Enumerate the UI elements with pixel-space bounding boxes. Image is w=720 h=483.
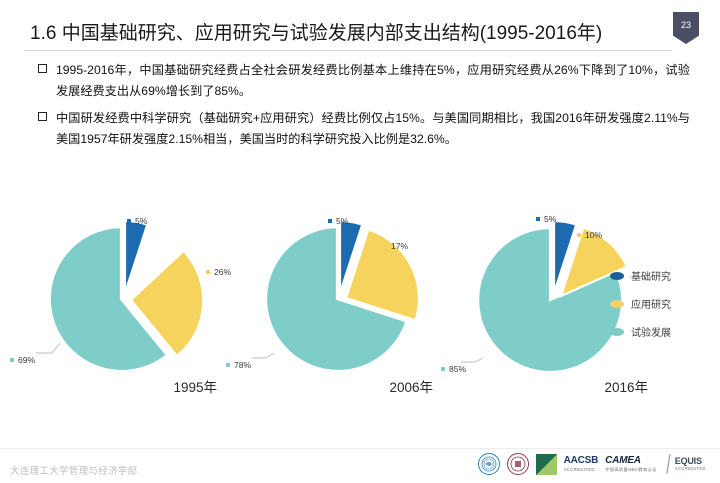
bullet-text: 中国研发经费中科学研究（基础研究+应用研究）经费比例仅占15%。与美国同期相比，… bbox=[56, 108, 690, 150]
data-label-experimental: 69% bbox=[10, 355, 35, 365]
page-title: 1.6 中国基础研究、应用研究与试验发展内部支出结构(1995-2016年) bbox=[30, 18, 602, 45]
aacsb-logo-main: AACSB bbox=[564, 456, 599, 466]
data-label-experimental: 78% bbox=[226, 360, 251, 370]
list-item: 中国研发经费中科学研究（基础研究+应用研究）经费比例仅占15%。与美国同期相比，… bbox=[30, 108, 690, 150]
legend-swatch-applied-icon bbox=[610, 300, 624, 308]
data-label-applied: 10% bbox=[577, 230, 602, 240]
leader-line-experimental bbox=[461, 358, 483, 362]
pie-chart-1995: 5% 26% 69% 1995年 bbox=[24, 196, 239, 396]
equis-logo: ╱ EQUIS ACCREDITED bbox=[664, 455, 706, 473]
bullet-text: 1995-2016年，中国基础研究经费占全社会研发经费比例基本上维持在5%，应用… bbox=[56, 60, 690, 102]
legend-item-experimental: 试验发展 bbox=[610, 324, 671, 339]
data-label-experimental: 85% bbox=[441, 364, 466, 374]
marker-basic-icon bbox=[328, 219, 332, 223]
aacsb-mark-icon bbox=[536, 454, 557, 475]
aacsb-logo: AACSB ACCREDITED bbox=[564, 456, 599, 472]
fem-seal-icon bbox=[507, 453, 529, 475]
list-item: 1995-2016年，中国基础研究经费占全社会研发经费比例基本上维持在5%，应用… bbox=[30, 60, 690, 102]
marker-basic-icon bbox=[536, 217, 540, 221]
marker-applied-icon bbox=[577, 233, 581, 237]
camea-logo: CAMEA 中国高质量MBA教育认证 bbox=[605, 456, 657, 472]
marker-experimental-icon bbox=[10, 358, 14, 362]
camea-logo-main: CAMEA bbox=[605, 456, 657, 466]
square-bullet-icon bbox=[38, 112, 47, 121]
camea-logo-sub: 中国高质量MBA教育认证 bbox=[605, 468, 657, 472]
marker-applied-icon bbox=[206, 270, 210, 274]
data-label-applied: 17% bbox=[383, 241, 408, 251]
leader-line-experimental bbox=[252, 353, 274, 358]
legend-label-experimental: 试验发展 bbox=[631, 324, 671, 339]
marker-experimental-icon bbox=[226, 363, 230, 367]
pie-svg-2006 bbox=[240, 202, 440, 377]
equis-swoosh-icon: ╱ bbox=[661, 454, 675, 474]
legend-swatch-basic-icon bbox=[610, 272, 624, 280]
legend-swatch-experimental-icon bbox=[610, 328, 624, 336]
pie-svg-1995 bbox=[24, 202, 224, 377]
dlut-seal-icon bbox=[478, 453, 500, 475]
data-label-basic: 5% bbox=[536, 214, 556, 224]
legend-label-applied: 应用研究 bbox=[631, 296, 671, 311]
marker-basic-icon bbox=[127, 219, 131, 223]
pie-slice-basic bbox=[125, 221, 147, 293]
fem-seal-glyph-icon bbox=[510, 456, 526, 472]
data-label-basic: 5% bbox=[127, 216, 147, 226]
leader-line-experimental bbox=[36, 343, 60, 353]
year-label-2016: 2016年 bbox=[604, 376, 648, 396]
year-label-1995: 1995年 bbox=[173, 376, 217, 396]
legend-label-basic: 基础研究 bbox=[631, 268, 671, 283]
title-divider bbox=[24, 50, 672, 51]
footer-divider bbox=[0, 448, 720, 449]
footer-department: 大连理工大学管理与经济学部 bbox=[10, 463, 137, 477]
chart-legend: 基础研究 应用研究 试验发展 bbox=[610, 268, 671, 352]
data-label-applied: 26% bbox=[206, 267, 231, 277]
marker-experimental-icon bbox=[441, 367, 445, 371]
legend-item-basic: 基础研究 bbox=[610, 268, 671, 283]
page-number-badge: 23 bbox=[673, 12, 699, 44]
pie-chart-2006: 5% 17% 78% 2006年 bbox=[240, 196, 455, 396]
legend-item-applied: 应用研究 bbox=[610, 296, 671, 311]
equis-logo-main: EQUIS bbox=[675, 457, 706, 466]
equis-logo-sub: ACCREDITED bbox=[675, 467, 706, 471]
dlut-seal-glyph-icon bbox=[481, 456, 497, 472]
square-bullet-icon bbox=[38, 64, 47, 73]
aacsb-logo-sub: ACCREDITED bbox=[564, 468, 599, 472]
footer-logos: AACSB ACCREDITED CAMEA 中国高质量MBA教育认证 ╱ EQ… bbox=[478, 451, 706, 477]
data-label-basic: 5% bbox=[328, 216, 348, 226]
bullet-list: 1995-2016年，中国基础研究经费占全社会研发经费比例基本上维持在5%，应用… bbox=[30, 60, 690, 156]
marker-applied-icon bbox=[383, 244, 387, 248]
year-label-2006: 2006年 bbox=[389, 376, 433, 396]
